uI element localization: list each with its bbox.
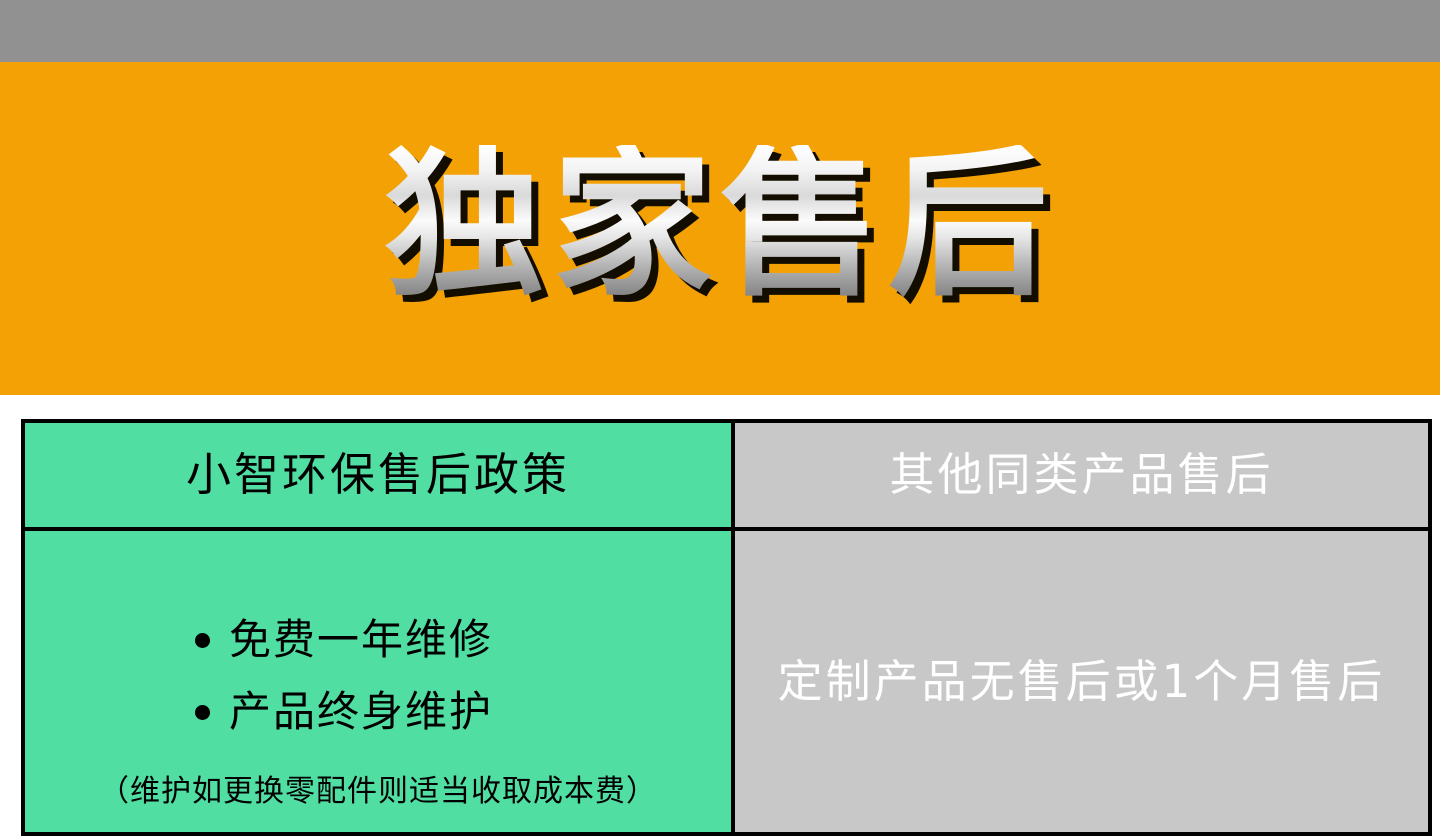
own-policy-bullet-list: 免费一年维修 产品终身维护 bbox=[25, 557, 731, 733]
comparison-table-wrapper: 小智环保售后政策 其他同类产品售后 免费一年维修 产品终身维护 bbox=[21, 419, 1420, 828]
orange-banner: 独家售后 bbox=[0, 62, 1440, 395]
table-header-row: 小智环保售后政策 其他同类产品售后 bbox=[23, 421, 1430, 529]
top-gray-bar bbox=[0, 0, 1440, 62]
list-item-label: 免费一年维修 bbox=[229, 615, 493, 664]
bullet-dot-icon bbox=[195, 705, 210, 720]
header-cell-other-policy: 其他同类产品售后 bbox=[733, 421, 1430, 529]
page-title: 独家售后 bbox=[384, 145, 1056, 313]
body-cell-other-policy: 定制产品无售后或1个月售后 bbox=[733, 529, 1430, 834]
other-policy-text: 定制产品无售后或1个月售后 bbox=[735, 657, 1428, 707]
header-label-other-policy: 其他同类产品售后 bbox=[889, 448, 1273, 501]
comparison-table: 小智环保售后政策 其他同类产品售后 免费一年维修 产品终身维护 bbox=[21, 419, 1432, 836]
own-policy-note: （维护如更换零配件则适当收取成本费） bbox=[25, 777, 731, 807]
bullet-dot-icon bbox=[195, 633, 210, 648]
header-label-own-policy: 小智环保售后政策 bbox=[186, 448, 570, 501]
list-item: 产品终身维护 bbox=[195, 691, 731, 733]
table-body-row: 免费一年维修 产品终身维护 （维护如更换零配件则适当收取成本费） 定制产品无售后… bbox=[23, 529, 1430, 834]
list-item-label: 产品终身维护 bbox=[229, 687, 493, 736]
list-item: 免费一年维修 bbox=[195, 619, 731, 661]
body-cell-own-policy: 免费一年维修 产品终身维护 （维护如更换零配件则适当收取成本费） bbox=[23, 529, 733, 834]
header-cell-own-policy: 小智环保售后政策 bbox=[23, 421, 733, 529]
